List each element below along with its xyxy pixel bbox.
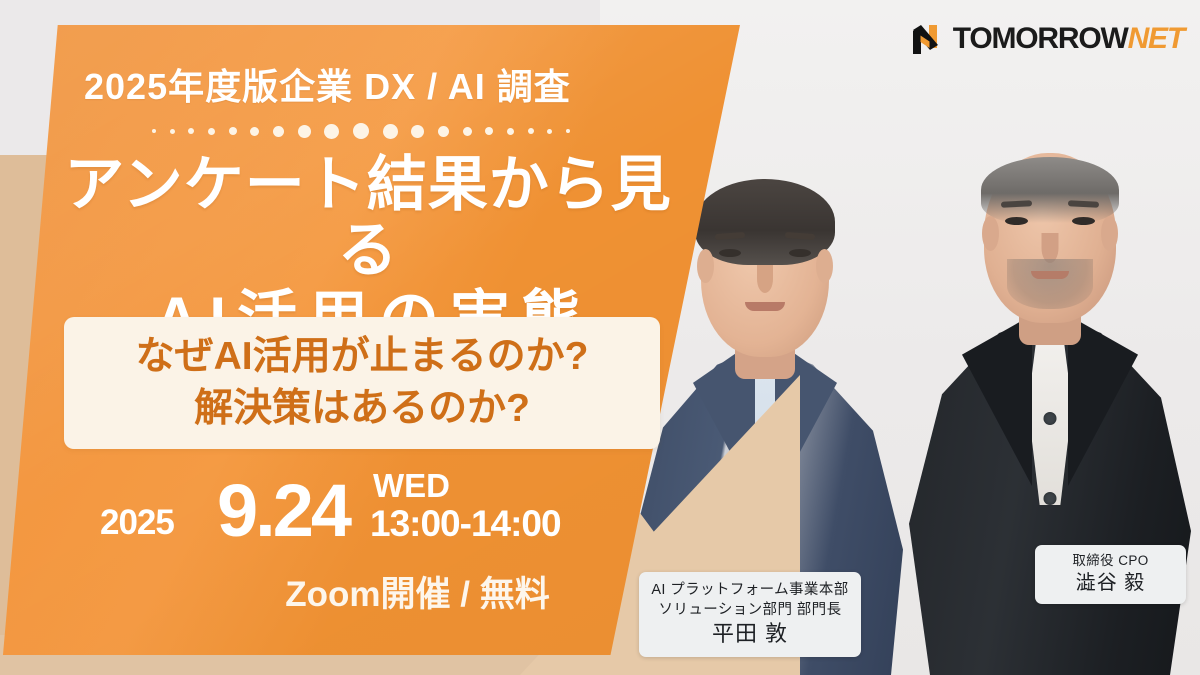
jacket-button [1044,412,1057,425]
hero-content: 2025年度版企業 DX / AI 調査 アンケート結果から見る AI活用の実態… [0,0,700,675]
beard [1007,259,1093,309]
event-delivery-info: Zoom開催 / 無料 [60,566,620,617]
ear-left [982,216,999,251]
hair [695,179,835,265]
eye-left [1005,217,1028,225]
title-line-1: アンケート結果から見る [38,152,698,284]
speaker-role-line-1: AI プラットフォーム事業本部 [645,580,855,600]
event-date: 9.24 [217,468,349,553]
speaker-name: 平田 敦 [645,620,855,648]
event-day-of-week: WED [373,467,450,505]
dotted-divider-icon [152,120,570,142]
brand-logo[interactable]: TOMORROW NET [907,18,1184,60]
speaker-name: 澁谷 毅 [1041,570,1180,596]
event-time: 13:00-14:00 [370,503,561,545]
webinar-banner: 2025年度版企業 DX / AI 調査 アンケート結果から見る AI活用の実態… [0,0,1200,675]
eye-right [1072,217,1095,225]
callout-line-1: なぜAI活用が止まるのか? [136,331,589,383]
brand-name-accent: NET [1128,22,1184,56]
jacket-button [1044,492,1057,505]
brand-name-primary: TOMORROW [953,22,1128,56]
mouth [1031,271,1069,279]
event-datetime: 2025 9.24 WED 13:00-14:00 [60,465,640,547]
eye-left [719,249,741,257]
question-callout-box: なぜAI活用が止まるのか? 解決策はあるのか? [64,317,660,449]
nameplate-speaker-1: AI プラットフォーム事業本部 ソリューション部門 部門長 平田 敦 [639,572,861,657]
kicker-text: 2025年度版企業 DX / AI 調査 [84,58,664,110]
ear-right [1101,216,1118,251]
ear-right [816,249,833,283]
brand-wordmark: TOMORROW NET [953,22,1184,56]
speaker-role-line-1: 取締役 CPO [1041,552,1180,570]
nameplate-speaker-2: 取締役 CPO 澁谷 毅 [1035,545,1186,604]
mouth [745,302,785,311]
speaker-role-line-2: ソリューション部門 部門長 [645,600,855,620]
n-monogram-icon [907,21,944,58]
event-year: 2025 [100,503,174,543]
callout-line-2: 解決策はあるのか? [194,383,530,435]
hair [981,157,1119,223]
nose [757,265,773,293]
eye-right [789,249,811,257]
